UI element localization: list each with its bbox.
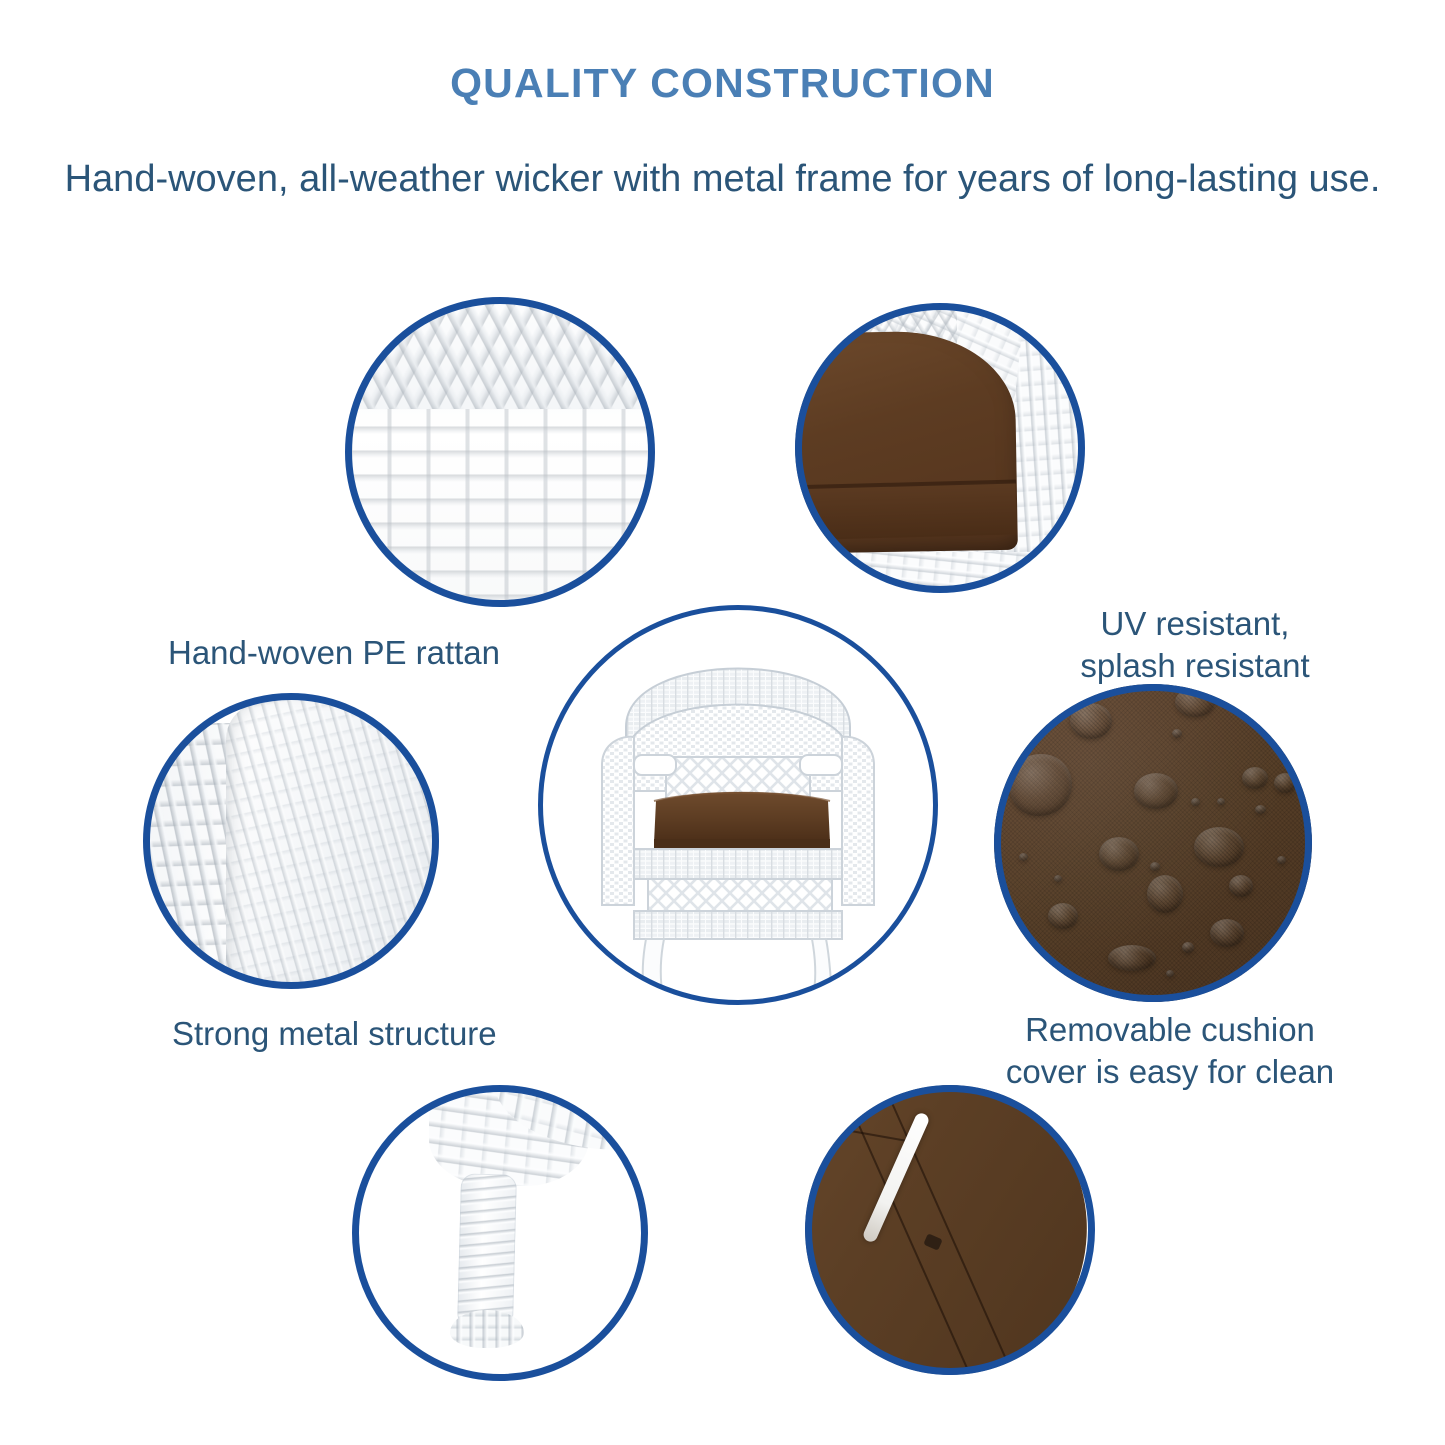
water-droplet	[1242, 767, 1268, 789]
page-subtitle: Hand-woven, all-weather wicker with meta…	[0, 158, 1445, 201]
feature-image-cushion	[795, 303, 1085, 593]
water-droplet	[1182, 942, 1194, 953]
woven-leg-foot	[450, 1310, 524, 1348]
wrapped-leg-shaft	[457, 1173, 517, 1328]
caption-rattan: Hand-woven PE rattan	[168, 632, 588, 674]
feature-image-rattan	[345, 297, 655, 607]
armrest-corner-closeup	[143, 693, 439, 989]
water-droplet	[1172, 729, 1182, 738]
water-droplet	[1255, 805, 1266, 814]
water-droplet	[1099, 837, 1139, 871]
water-droplet	[1147, 875, 1183, 913]
water-droplet	[1108, 945, 1156, 971]
water-droplet	[1229, 875, 1253, 897]
feature-image-frame	[143, 693, 439, 989]
caption-removable-cover: Removable cushion cover is easy for clea…	[985, 1009, 1355, 1092]
feature-image-waterproof	[994, 684, 1312, 1002]
infographic-page: QUALITY CONSTRUCTION Hand-woven, all-wea…	[0, 0, 1445, 1445]
water-droplet	[1274, 773, 1296, 793]
wicker-base-panel	[795, 552, 1085, 593]
page-title: QUALITY CONSTRUCTION	[0, 60, 1445, 107]
cushion-closeup	[795, 303, 1085, 593]
rattan-texture	[345, 297, 655, 607]
water-droplet	[1134, 773, 1178, 809]
chair-leg-closeup	[352, 1085, 648, 1381]
feature-image-zipper	[805, 1085, 1095, 1375]
center-product-image	[538, 605, 938, 1005]
brown-cushion-front	[795, 482, 1016, 541]
white-wicker-armchair-illustration	[538, 605, 938, 1005]
feature-image-leg	[352, 1085, 648, 1381]
rattan-open-lattice-texture	[345, 297, 655, 409]
water-droplet	[1019, 853, 1028, 861]
water-droplet	[1166, 970, 1174, 977]
water-droplet	[1277, 856, 1286, 864]
water-droplet	[1150, 862, 1160, 871]
cushion-zipper-closeup	[805, 1085, 1095, 1375]
water-droplets-closeup	[994, 684, 1312, 1002]
chair-stage	[538, 605, 938, 1005]
caption-uv-resistant: UV resistant, splash resistant	[1030, 603, 1360, 686]
white-backdrop	[352, 1085, 648, 1381]
wicker-dense-weave-face	[226, 699, 439, 983]
caption-metal-structure: Strong metal structure	[172, 1013, 632, 1055]
